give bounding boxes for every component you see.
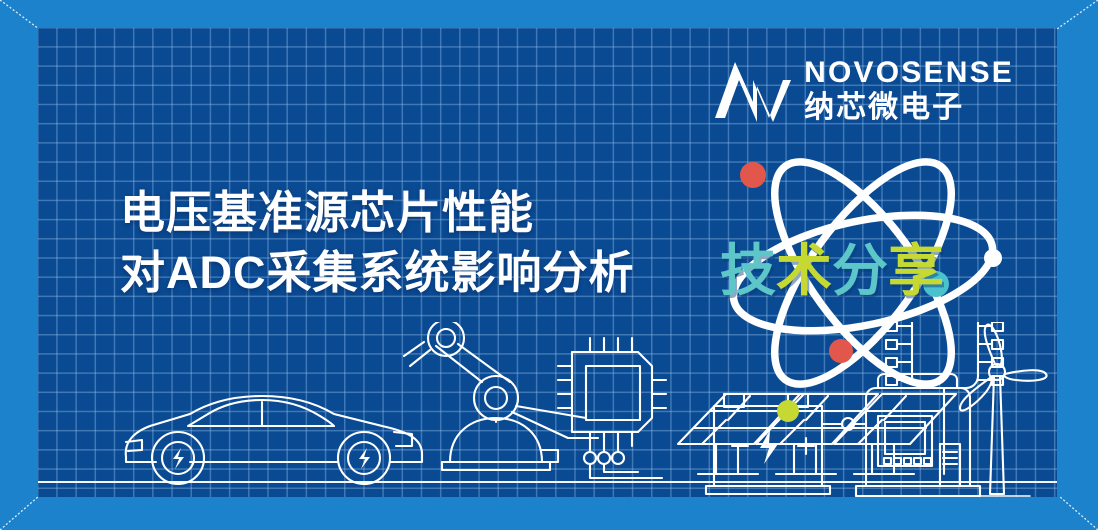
novosense-chevron-logo	[713, 60, 793, 122]
electron-lime-bottom	[777, 400, 799, 422]
headline-line-2: 对ADC采集系统影响分析	[120, 243, 635, 303]
promo-banner: 电压基准源芯片性能 对ADC采集系统影响分析 技 术 分 享 NOVOSENSE…	[0, 0, 1098, 530]
ground-line	[38, 481, 1057, 483]
badge-char-2: 术	[776, 243, 832, 299]
badge-char-1: 技	[720, 243, 776, 299]
brand-name-cn: 纳芯微电子	[804, 93, 1014, 123]
page-title: 电压基准源芯片性能 对ADC采集系统影响分析	[120, 183, 635, 303]
brand-logo: NOVOSENSE 纳芯微电子	[713, 58, 1014, 123]
status-badge: 技 术 分 享	[720, 231, 1010, 311]
brand-name-en: NOVOSENSE	[804, 58, 1014, 88]
badge-char-3: 分	[832, 243, 888, 299]
headline-line-1: 电压基准源芯片性能	[120, 183, 635, 243]
electron-red-center	[829, 339, 853, 363]
electron-red-top-left	[740, 162, 766, 188]
blueprint-panel: 电压基准源芯片性能 对ADC采集系统影响分析 技 术 分 享 NOVOSENSE…	[38, 28, 1057, 497]
badge-char-4: 享	[888, 243, 944, 299]
